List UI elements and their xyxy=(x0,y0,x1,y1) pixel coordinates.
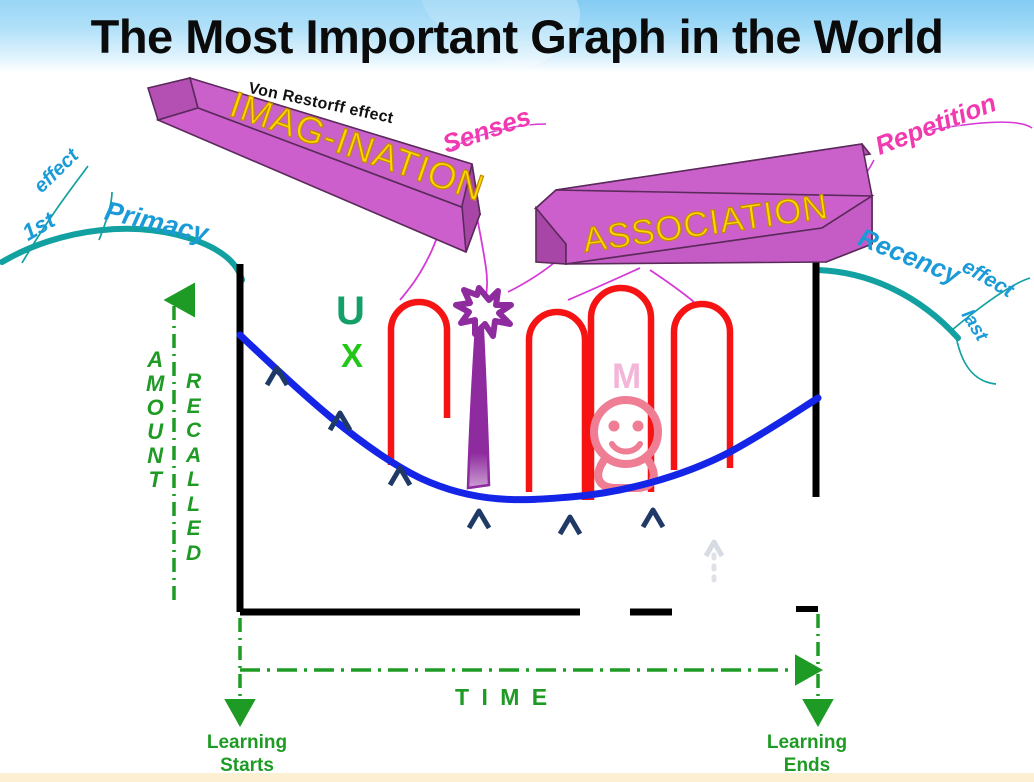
recalled-letter: C xyxy=(186,419,201,444)
amount-axis-label: AMOUNT xyxy=(146,348,164,492)
ux-x-label: X xyxy=(341,339,363,372)
recalled-letter: R xyxy=(186,370,201,395)
amount-letter: T xyxy=(148,468,161,492)
recalled-letter: E xyxy=(187,395,201,420)
amount-letter: A xyxy=(147,348,163,372)
recalled-letter: L xyxy=(187,493,200,518)
ux-u-label: U xyxy=(336,291,365,331)
recalled-letter: D xyxy=(186,542,201,567)
learning-ends-line1: Learning xyxy=(752,731,862,754)
amount-letter: O xyxy=(147,396,164,420)
recalled-letter: A xyxy=(186,444,201,469)
recalled-letter: L xyxy=(187,468,200,493)
recalled-letter: E xyxy=(187,517,201,542)
amount-letter: M xyxy=(146,372,164,396)
time-axis-label: T I M E xyxy=(455,686,550,709)
slide-canvas: The Most Important Graph in the World xyxy=(0,0,1034,782)
amount-letter: N xyxy=(147,444,163,468)
learning-starts-label: Learning Starts xyxy=(192,731,302,777)
amount-letter: U xyxy=(147,420,163,444)
memory-m-label: M xyxy=(612,359,641,394)
footer-strip xyxy=(0,773,1034,782)
learning-starts-line1: Learning xyxy=(192,731,302,754)
recalled-axis-label: RECALLED xyxy=(186,370,201,566)
learning-ends-label: Learning Ends xyxy=(752,731,862,777)
